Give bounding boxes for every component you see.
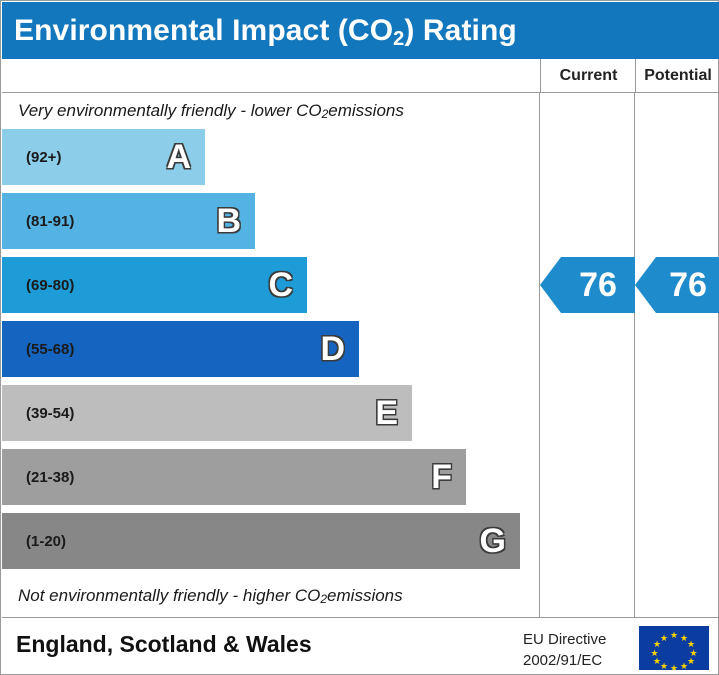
footer-region-label: England, Scotland & Wales [16, 631, 312, 658]
eu-flag-icon: ★ ★ ★ ★ ★ ★ ★ ★ ★ ★ ★ ★ [639, 626, 709, 670]
rating-bar-g: (1-20) G [2, 513, 520, 569]
chart-body: Very environmentally friendly - lower CO… [2, 93, 719, 617]
rating-range-d: (55-68) [2, 341, 74, 358]
caption-bottom: Not environmentally friendly - higher CO… [2, 577, 539, 615]
rating-range-f: (21-38) [2, 469, 74, 486]
rating-range-c: (69-80) [2, 277, 74, 294]
potential-rating-value: 76 [669, 266, 707, 305]
footer-directive: EU Directive 2002/91/EC [523, 630, 606, 671]
column-header-row: Current Potential [2, 59, 719, 93]
rating-letter-g: G [480, 524, 506, 558]
chart-footer: England, Scotland & Wales EU Directive 2… [2, 617, 719, 674]
page-title-pre: Environmental Impact (CO [14, 14, 393, 47]
caption-top-pre: Very environmentally friendly - lower CO [18, 101, 322, 121]
rating-bar-e: (39-54) E [2, 385, 412, 441]
rating-letter-b: B [216, 204, 241, 238]
potential-rating-marker: 76 [656, 257, 719, 313]
rating-bar-f: (21-38) F [2, 449, 466, 505]
rating-range-g: (1-20) [2, 533, 66, 550]
caption-bottom-subscript: 2 [320, 592, 327, 606]
rating-letter-a: A [166, 140, 191, 174]
rating-range-b: (81-91) [2, 213, 74, 230]
rating-range-a: (92+) [2, 149, 61, 166]
page-title: Environmental Impact (CO2) Rating [2, 14, 517, 48]
page-title-subscript: 2 [393, 28, 404, 50]
page-title-post: ) Rating [404, 14, 516, 47]
epc-environmental-impact-chart: Environmental Impact (CO2) Rating Curren… [0, 0, 719, 675]
current-rating-value: 76 [579, 266, 617, 305]
divider-right [634, 93, 635, 617]
footer-directive-line2: 2002/91/EC [523, 651, 606, 672]
caption-bottom-pre: Not environmentally friendly - higher CO [18, 586, 320, 606]
chart-header: Environmental Impact (CO2) Rating [2, 2, 719, 59]
current-rating-marker: 76 [561, 257, 635, 313]
divider-left [539, 93, 540, 617]
rating-bar-d: (55-68) D [2, 321, 359, 377]
current-marker-arrow-icon [540, 257, 561, 313]
rating-letter-d: D [320, 332, 345, 366]
caption-top: Very environmentally friendly - lower CO… [2, 93, 539, 129]
rating-letter-c: C [268, 268, 293, 302]
footer-directive-line1: EU Directive [523, 630, 606, 651]
potential-marker-arrow-icon [635, 257, 656, 313]
column-header-current: Current [540, 59, 636, 92]
rating-bar-b: (81-91) B [2, 193, 255, 249]
rating-bars: (92+) A (81-91) B (69-80) C (55-68) D (3… [2, 129, 539, 577]
caption-top-post: emissions [328, 101, 404, 121]
caption-bottom-post: emissions [327, 586, 403, 606]
rating-bar-a: (92+) A [2, 129, 205, 185]
rating-bar-c: (69-80) C [2, 257, 307, 313]
rating-letter-e: E [375, 396, 398, 430]
rating-letter-f: F [431, 460, 452, 494]
caption-top-subscript: 2 [322, 107, 329, 121]
column-header-potential: Potential [635, 59, 719, 92]
rating-range-e: (39-54) [2, 405, 74, 422]
